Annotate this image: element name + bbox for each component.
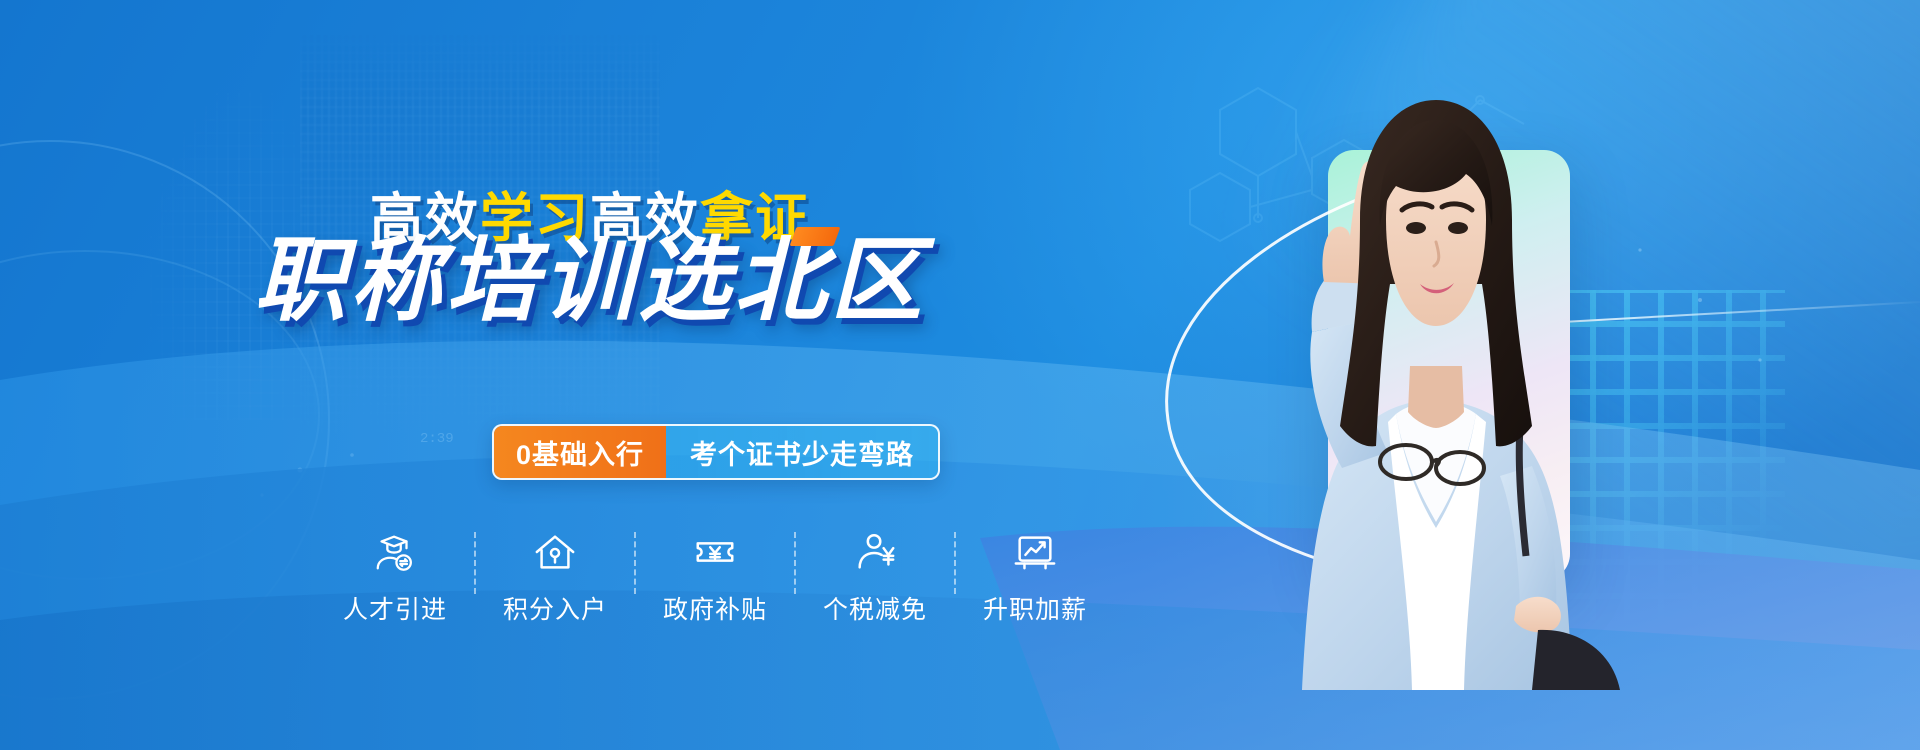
feature-item-points-residency[interactable]: 积分入户 — [480, 528, 630, 626]
headline: 职称培训选北区 — [0, 235, 1180, 327]
ticket-yuan-icon — [692, 528, 738, 576]
copy-block: 高效学习高效拿证 职称培训选北区 0基础入行 考个证书少走弯路 — [0, 0, 1180, 750]
feature-label: 人才引进 — [343, 590, 447, 626]
badge-right-label: 考个证书少走弯路 — [666, 426, 938, 478]
feature-label: 政府补贴 — [663, 590, 767, 626]
feature-label: 积分入户 — [503, 590, 607, 626]
promo-badge[interactable]: 0基础入行 考个证书少走弯路 — [492, 424, 940, 480]
feature-divider — [474, 532, 476, 594]
promo-banner: 2:39 — [0, 0, 1920, 750]
feature-divider — [794, 532, 796, 594]
badge-left-label: 0基础入行 — [494, 426, 666, 478]
feature-item-promotion-raise[interactable]: 升职加薪 — [960, 528, 1110, 626]
feature-list: 人才引进 积分入户 — [320, 528, 1110, 638]
feature-item-talent-intro[interactable]: 人才引进 — [320, 528, 470, 626]
feature-label: 个税减免 — [823, 590, 927, 626]
presenter-photo — [1220, 70, 1650, 690]
chart-board-icon — [1012, 528, 1058, 576]
feature-divider — [634, 532, 636, 594]
feature-item-government-subsidy[interactable]: 政府补贴 — [640, 528, 790, 626]
feature-divider — [954, 532, 956, 594]
feature-label: 升职加薪 — [983, 590, 1087, 626]
headline-accent-mark — [790, 227, 841, 246]
hero-visual — [1180, 0, 1920, 750]
house-pin-icon — [532, 528, 578, 576]
person-yuan-icon — [852, 528, 898, 576]
feature-item-tax-reduction[interactable]: 个税减免 — [800, 528, 950, 626]
graduate-person-icon — [372, 528, 418, 576]
